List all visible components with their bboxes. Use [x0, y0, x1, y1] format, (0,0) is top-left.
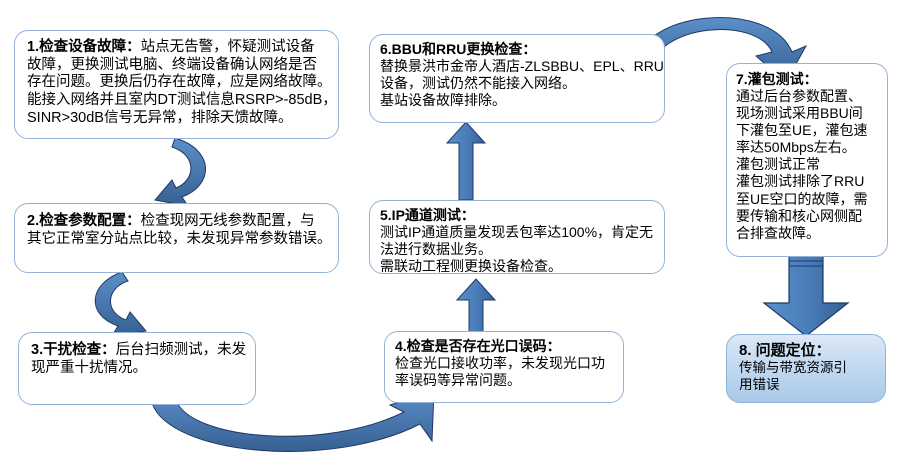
- step-7-line-4: 率达50Mbps左右。: [736, 139, 881, 156]
- step-8-body: 8. 问题定位： 传输与带宽资源引 用错误: [727, 335, 885, 397]
- step-4-optical-port-error-check[interactable]: 4.检查是否存在光口误码： 检查光口接收功率，未发现光口功 率误码等异常问题。: [384, 331, 624, 403]
- step-5-body: 5.IP通道测试： 测试IP通道质量发现丢包率达100%，肯定无 法进行数据业务…: [370, 201, 664, 279]
- step-2-check-parameter-config[interactable]: 2.检查参数配置：检查现网无线参数配置，与 其它正常室分站点比较，未发现异常参数…: [14, 203, 339, 273]
- step-1-line-2: 故障，更换测试电脑、终端设备确认网络是否: [27, 57, 328, 75]
- step-1-line-4: 能接入网络并且室内DT测试信息RSRP>-85dB，: [27, 92, 328, 110]
- step-3-line-1: 3.干扰检查：后台扫频测试，未发: [31, 342, 245, 360]
- step-3-text-1: 后台扫频测试，未发: [116, 342, 247, 358]
- step-5-heading: 5.IP通道测试：: [380, 207, 655, 224]
- step-8-line-2: 用错误: [739, 377, 877, 393]
- step-7-line-7: 至UE空口的故障，需: [736, 191, 881, 208]
- step-4-line-2: 率误码等异常问题。: [395, 372, 614, 389]
- step-7-heading: 7.灌包测试：: [736, 71, 881, 88]
- connector-7-to-8: [764, 256, 848, 336]
- connector-2-to-3: [95, 272, 146, 336]
- step-2-line-2: 其它正常室分站点比较，未发现异常参数错误。: [27, 231, 328, 249]
- step-2-body: 2.检查参数配置：检查现网无线参数配置，与 其它正常室分站点比较，未发现异常参数…: [15, 204, 338, 252]
- step-5-line-2: 法进行数据业务。: [380, 241, 655, 258]
- step-7-line-5: 灌包测试正常: [736, 156, 881, 173]
- step-3-line-2: 现严重十扰情况。: [31, 360, 245, 378]
- step-4-line-1: 检查光口接收功率，未发现光口功: [395, 355, 614, 372]
- step-3-body: 3.干扰检查：后台扫频测试，未发 现严重十扰情况。: [19, 333, 255, 381]
- connector-1-to-2: [155, 138, 206, 206]
- step-8-line-1: 传输与带宽资源引: [739, 360, 877, 376]
- step-7-body: 7.灌包测试： 通过后台参数配置、 现场测试采用BBU间 下灌包至UE，灌包速 …: [727, 64, 887, 246]
- step-1-line-3: 存在问题。更换后仍存在故障，应是网络故障。: [27, 74, 328, 92]
- connector-4-to-5: [456, 279, 496, 332]
- step-3-heading: 3.干扰检查：: [31, 342, 116, 358]
- step-6-body: 6.BBU和RRU更换检查： 替换景洪市金帝人酒店-ZLSBBU、EPL、RRU…: [370, 35, 664, 113]
- step-1-body: 1.检查设备故障：站点无告警，怀疑测试设备 故障，更换测试电脑、终端设备确认网络…: [15, 31, 338, 131]
- step-3-interference-check[interactable]: 3.干扰检查：后台扫频测试，未发 现严重十扰情况。: [18, 332, 256, 405]
- step-6-heading: 6.BBU和RRU更换检查：: [380, 41, 655, 58]
- step-2-text-1: 检查现网无线参数配置，与: [141, 213, 315, 229]
- step-6-bbu-rru-replacement-check[interactable]: 6.BBU和RRU更换检查： 替换景洪市金帝人酒店-ZLSBBU、EPL、RRU…: [369, 34, 665, 123]
- step-6-line-3: 基站设备故障排除。: [380, 92, 655, 109]
- step-4-heading: 4.检查是否存在光口误码：: [395, 338, 614, 355]
- step-7-line-8: 要传输和核心网侧配: [736, 208, 881, 225]
- step-8-problem-localization[interactable]: 8. 问题定位： 传输与带宽资源引 用错误: [726, 334, 886, 403]
- step-7-line-3: 下灌包至UE，灌包速: [736, 122, 881, 139]
- step-6-line-2: 设备，测试仍然不能接入网络。: [380, 75, 655, 92]
- step-1-line-5: SINR>30dB信号无异常，排除天馈故障。: [27, 110, 328, 128]
- step-8-heading: 8. 问题定位：: [739, 342, 877, 360]
- flowchart-canvas: 1.检查设备故障：站点无告警，怀疑测试设备 故障，更换测试电脑、终端设备确认网络…: [0, 0, 900, 464]
- step-5-line-3: 需联动工程侧更换设备检查。: [380, 258, 655, 275]
- step-7-line-9: 合排查故障。: [736, 225, 881, 242]
- step-1-line-1: 1.检查设备故障：站点无告警，怀疑测试设备: [27, 39, 328, 57]
- step-7-line-1: 通过后台参数配置、: [736, 88, 881, 105]
- step-4-body: 4.检查是否存在光口误码： 检查光口接收功率，未发现光口功 率误码等异常问题。: [385, 332, 623, 393]
- connector-5-to-6: [447, 122, 485, 200]
- step-5-line-1: 测试IP通道质量发现丢包率达100%，肯定无: [380, 224, 655, 241]
- step-2-heading: 2.检查参数配置：: [27, 213, 141, 229]
- step-7-line-2: 现场测试采用BBU间: [736, 105, 881, 122]
- step-1-check-equipment-fault[interactable]: 1.检查设备故障：站点无告警，怀疑测试设备 故障，更换测试电脑、终端设备确认网络…: [14, 30, 339, 139]
- step-7-line-6: 灌包测试排除了RRU: [736, 173, 881, 190]
- step-2-line-1: 2.检查参数配置：检查现网无线参数配置，与: [27, 213, 328, 231]
- step-1-heading: 1.检查设备故障：: [27, 39, 141, 55]
- step-6-line-1: 替换景洪市金帝人酒店-ZLSBBU、EPL、RRU: [380, 58, 655, 75]
- step-7-packet-injection-test[interactable]: 7.灌包测试： 通过后台参数配置、 现场测试采用BBU间 下灌包至UE，灌包速 …: [726, 63, 888, 257]
- step-5-ip-channel-test[interactable]: 5.IP通道测试： 测试IP通道质量发现丢包率达100%，肯定无 法进行数据业务…: [369, 200, 665, 274]
- step-1-text-1: 站点无告警，怀疑测试设备: [141, 39, 315, 55]
